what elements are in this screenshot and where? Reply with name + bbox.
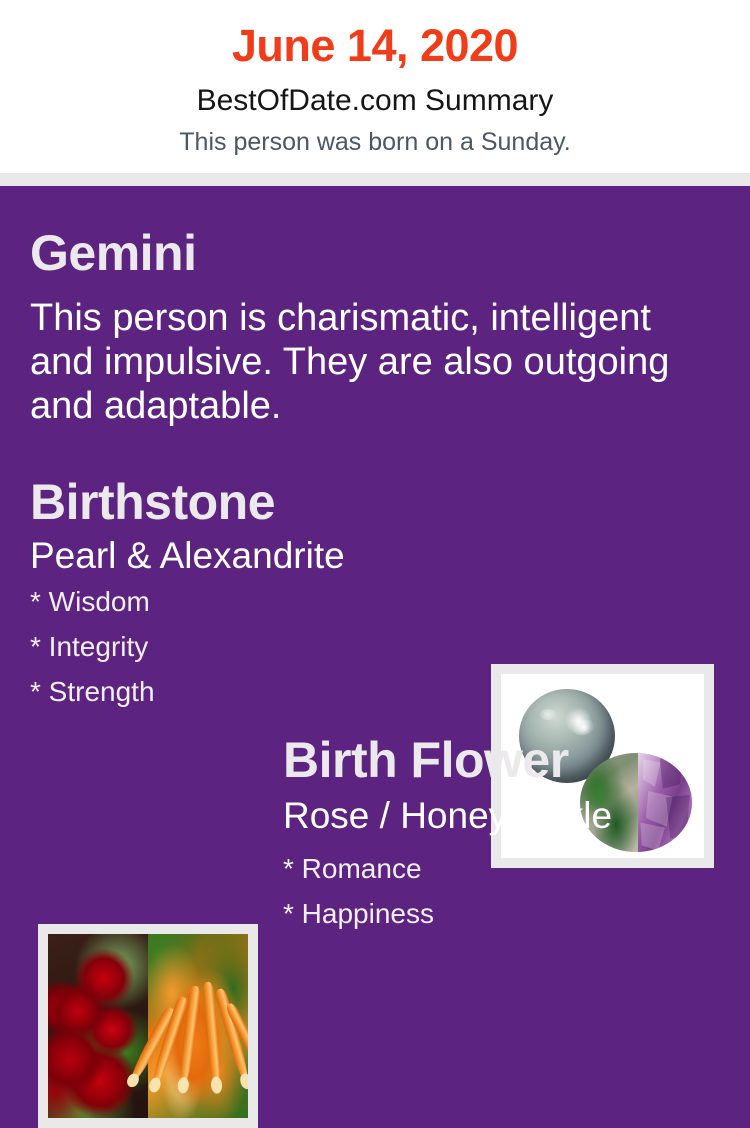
birthstone-heading: Birthstone [30,477,275,527]
list-item: * Romance [283,855,434,883]
site-summary-subtitle: BestOfDate.com Summary [0,85,750,117]
list-item: * Happiness [283,900,434,928]
date-summary-card: June 14, 2020 BestOfDate.com Summary Thi… [0,0,750,1000]
born-day-note: This person was born on a Sunday. [0,129,750,155]
pearl-secondary-highlight [540,709,555,719]
list-item: * Wisdom [30,588,155,616]
card-header: June 14, 2020 BestOfDate.com Summary Thi… [0,0,750,173]
list-item: * Integrity [30,633,155,661]
facet-a [643,759,661,787]
facet-e [640,823,665,851]
card-body: Gemini This person is charismatic, intel… [0,186,750,1000]
header-divider [0,173,750,186]
birth-flower-traits-list: * Romance * Happiness [283,855,434,945]
zodiac-sign-heading: Gemini [30,228,196,278]
pearl-highlight [571,717,596,738]
list-item: * Strength [30,678,155,706]
facet-d [666,795,690,839]
zodiac-description: This person is charismatic, intelligent … [30,296,710,428]
birth-flower-heading: Birth Flower [283,735,569,785]
birth-flower-photo-inner [48,934,248,1118]
birth-flower-names: Rose / Honeysuckle [283,797,612,836]
alexandrite-faceted-half [638,753,692,852]
birthstone-names: Pearl & Alexandrite [30,537,345,576]
birthstone-traits-list: * Wisdom * Integrity * Strength [30,588,155,723]
birth-flower-photo [38,924,258,1128]
facet-b [660,755,684,789]
roses-photo-half [48,934,148,1118]
page-title: June 14, 2020 [0,22,750,69]
honeysuckle-photo-half [148,934,248,1118]
